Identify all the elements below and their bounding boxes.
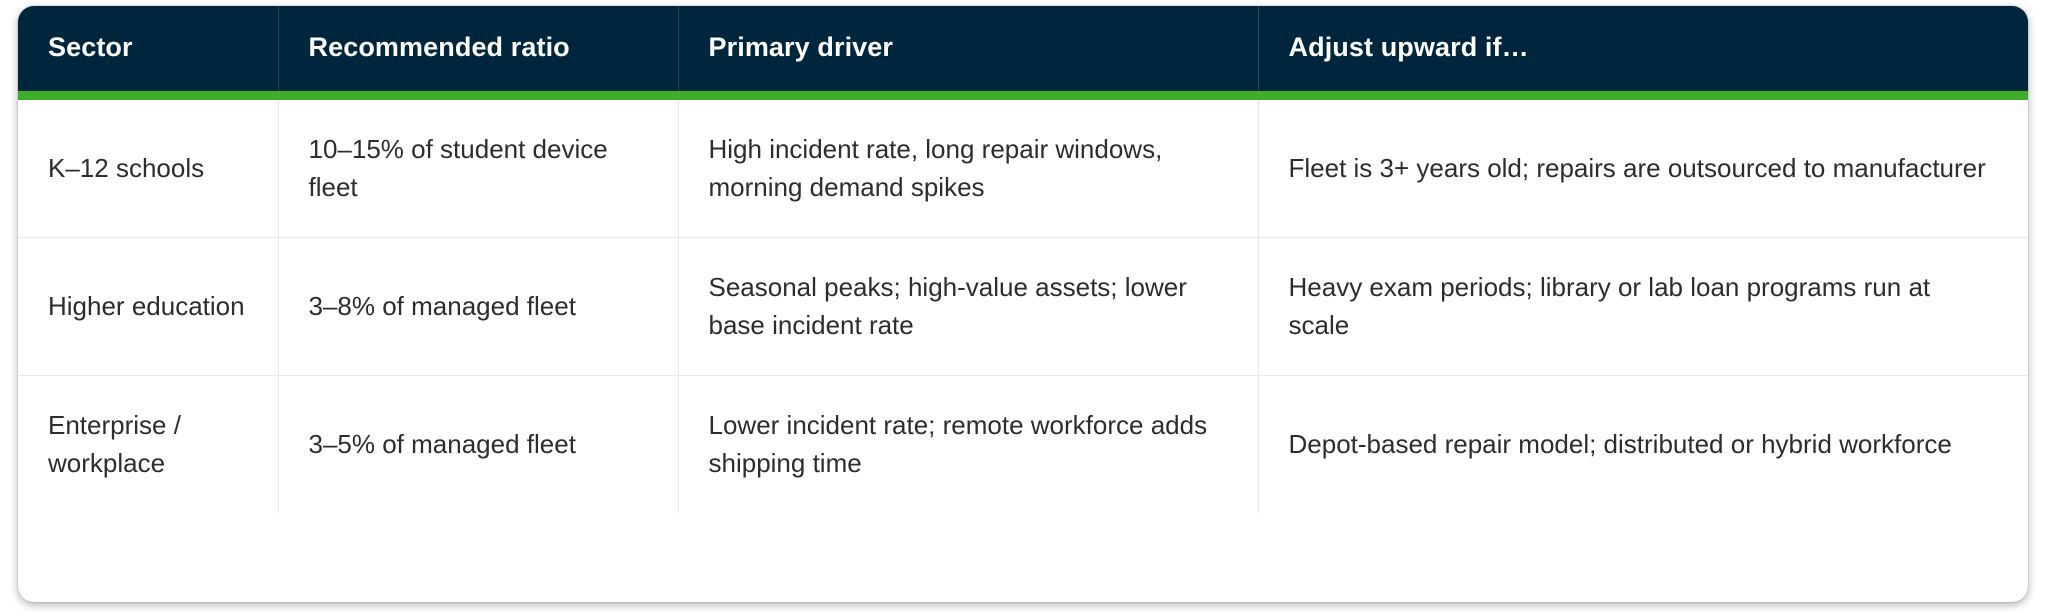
cell-recommended-ratio: 3–8% of managed fleet	[278, 237, 678, 375]
table-row: Enterprise / workplace 3–5% of managed f…	[18, 375, 2028, 512]
cell-primary-driver: Lower incident rate; remote workforce ad…	[678, 375, 1258, 512]
cell-driver-text: Seasonal peaks; high-value assets; lower…	[709, 268, 1228, 345]
column-header-sector[interactable]: Sector	[18, 6, 278, 91]
cell-adjust-upward: Fleet is 3+ years old; repairs are outso…	[1258, 100, 2028, 237]
cell-sector-text: Enterprise / workplace	[48, 406, 248, 483]
cell-sector-text: Higher education	[48, 287, 248, 325]
cell-adjust-text: Depot-based repair model; distributed or…	[1289, 425, 1999, 463]
cell-adjust-upward: Heavy exam periods; library or lab loan …	[1258, 237, 2028, 375]
cell-adjust-text: Fleet is 3+ years old; repairs are outso…	[1289, 149, 1999, 187]
spare-device-ratio-table: Sector Recommended ratio Primary driver …	[18, 6, 2028, 513]
table-header-row: Sector Recommended ratio Primary driver …	[18, 6, 2028, 91]
cell-ratio-text: 3–8% of managed fleet	[309, 287, 648, 325]
table-body: K–12 schools 10–15% of student device fl…	[18, 100, 2028, 513]
column-header-recommended-ratio[interactable]: Recommended ratio	[278, 6, 678, 91]
column-header-adjust-upward-if[interactable]: Adjust upward if…	[1258, 6, 2028, 91]
header-accent-bar	[18, 91, 2028, 100]
cell-ratio-text: 10–15% of student device fleet	[309, 130, 648, 207]
cell-adjust-upward: Depot-based repair model; distributed or…	[1258, 375, 2028, 512]
cell-sector-text: K–12 schools	[48, 149, 248, 187]
cell-recommended-ratio: 3–5% of managed fleet	[278, 375, 678, 512]
green-accent-bar	[18, 91, 2028, 100]
cell-driver-text: Lower incident rate; remote workforce ad…	[709, 406, 1228, 483]
table-row: Higher education 3–8% of managed fleet S…	[18, 237, 2028, 375]
cell-adjust-text: Heavy exam periods; library or lab loan …	[1289, 268, 1999, 345]
cell-primary-driver: Seasonal peaks; high-value assets; lower…	[678, 237, 1258, 375]
spare-ratio-table-card: Sector Recommended ratio Primary driver …	[18, 6, 2028, 602]
cell-sector: Enterprise / workplace	[18, 375, 278, 512]
cell-primary-driver: High incident rate, long repair windows,…	[678, 100, 1258, 237]
column-header-primary-driver[interactable]: Primary driver	[678, 6, 1258, 91]
cell-recommended-ratio: 10–15% of student device fleet	[278, 100, 678, 237]
cell-ratio-text: 3–5% of managed fleet	[309, 425, 648, 463]
table-header: Sector Recommended ratio Primary driver …	[18, 6, 2028, 91]
table-row: K–12 schools 10–15% of student device fl…	[18, 100, 2028, 237]
cell-driver-text: High incident rate, long repair windows,…	[709, 130, 1228, 207]
cell-sector: K–12 schools	[18, 100, 278, 237]
cell-sector: Higher education	[18, 237, 278, 375]
accent-bar-row	[18, 91, 2028, 100]
